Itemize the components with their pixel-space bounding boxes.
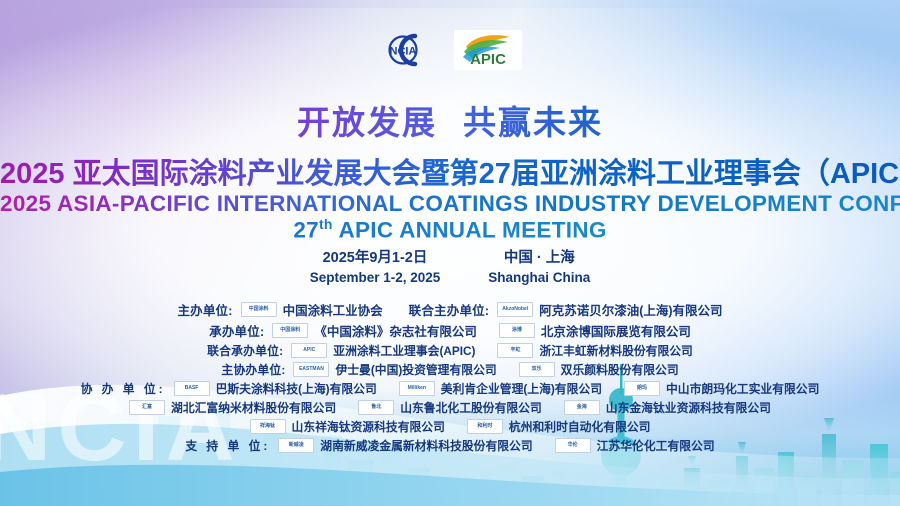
sponsor-logo-icon: 朗玛 — [624, 381, 660, 396]
sponsor-name: 亚洲涂料工业理事会(APIC) — [333, 342, 475, 359]
sponsor-row-label: 主办单位: — [177, 300, 232, 319]
sponsor-logo-icon: 中国涂料 — [241, 302, 277, 317]
sponsor-entry: APIC亚洲涂料工业理事会(APIC) — [291, 342, 475, 359]
header-logos: NCIA APIC — [0, 30, 900, 70]
sponsor-logo-icon: APIC — [291, 343, 327, 358]
sponsor-name: 山东祥海钛资源科技有限公司 — [292, 418, 445, 435]
sponsor-name: 北京涂博国际展览有限公司 — [541, 321, 691, 340]
sponsor-entry: 祥海钛山东祥海钛资源科技有限公司 — [250, 418, 445, 435]
sponsor-entry: 金海山东金海钛业资源科技有限公司 — [564, 399, 771, 416]
conference-title-english-line2: 27th APIC ANNUAL MEETING — [0, 216, 900, 244]
sponsor-entry: Milliken美利肯企业管理(上海)有限公司 — [399, 380, 602, 397]
sponsor-logo-icon: EASTMAN — [293, 362, 329, 377]
sponsor-name: 山东金海钛业资源科技有限公司 — [606, 399, 771, 416]
sponsor-logo-icon: 新威凌 — [278, 438, 314, 453]
sponsor-row-label: 联合承办单位: — [207, 342, 283, 359]
sponsor-name: 浙江丰虹新材料股份有限公司 — [539, 342, 692, 359]
sponsor-list: 主办单位:中国涂料中国涂料工业协会联合主办单位:AkzoNobel阿克苏诺贝尔漆… — [0, 300, 900, 456]
sponsor-name: 伊士曼(中国)投资管理有限公司 — [335, 361, 496, 378]
sponsor-row: 主协办单位:EASTMAN伊士曼(中国)投资管理有限公司双乐双乐颜料股份有限公司 — [0, 361, 900, 378]
svg-text:NCIA: NCIA — [390, 46, 417, 58]
ncia-logo-icon: NCIA — [379, 30, 431, 70]
conference-title-chinese: 2025 亚太国际涂料产业发展大会暨第27届亚洲涂料工业理事会（APIC）年会 — [0, 150, 900, 192]
sponsor-entry: 鲁北山东鲁北化工股份有限公司 — [358, 399, 542, 416]
sponsor-entry: 和利时杭州和利时自动化有限公司 — [467, 418, 651, 435]
sponsor-logo-icon: 中国涂料 — [272, 323, 308, 338]
slogan-part-2: 共赢未来 — [463, 104, 603, 141]
sponsor-name: 杭州和利时自动化有限公司 — [509, 418, 651, 435]
sponsor-name: 美利肯企业管理(上海)有限公司 — [441, 380, 602, 397]
sponsor-name: 中国涂料工业协会 — [283, 300, 383, 319]
sponsor-logo-icon: Milliken — [399, 381, 435, 396]
sponsor-name: 湖北汇富纳米材料股份有限公司 — [171, 399, 336, 416]
sponsor-logo-icon: 鲁北 — [358, 400, 394, 415]
sponsor-name: 双乐颜料股份有限公司 — [561, 361, 679, 378]
sponsor-entry: 汇富湖北汇富纳米材料股份有限公司 — [129, 399, 336, 416]
meeting-ordinal-suffix: th — [319, 216, 333, 232]
apic-logo: APIC — [454, 30, 522, 70]
sponsor-name: 阿克苏诺贝尔漆油(上海)有限公司 — [539, 300, 722, 319]
sponsor-name: 江苏华伦化工有限公司 — [597, 437, 715, 454]
conference-poster: NCIA NCIA APIC 开放发展共赢 — [0, 0, 900, 506]
sponsor-entry: 朗玛中山市朗玛化工实业有限公司 — [624, 380, 819, 397]
date-english: September 1-2, 2025 — [310, 269, 441, 287]
sponsor-logo-icon: BASF — [174, 381, 210, 396]
sponsor-entry: 双乐双乐颜料股份有限公司 — [519, 361, 679, 378]
apic-logo-icon: APIC — [456, 31, 520, 69]
sponsor-entry: 中国涂料中国涂料工业协会 — [241, 300, 383, 319]
sponsor-row: 承办单位:中国涂料《中国涂料》杂志社有限公司涂博北京涂博国际展览有限公司 — [0, 321, 900, 340]
sponsor-entry: 丰虹浙江丰虹新材料股份有限公司 — [497, 342, 692, 359]
sponsor-entry: EASTMAN伊士曼(中国)投资管理有限公司 — [293, 361, 496, 378]
sponsor-logo-icon: 丰虹 — [497, 343, 533, 358]
meeting-name: APIC ANNUAL MEETING — [333, 218, 607, 243]
sponsor-logo-icon: 双乐 — [519, 362, 555, 377]
sponsor-row: 支 持 单 位:新威凌湖南新威凌金属新材料科技股份有限公司华伦江苏华伦化工有限公… — [0, 437, 900, 454]
conference-slogan: 开放发展共赢未来 — [0, 96, 900, 144]
sponsor-row: 协 办 单 位:BASF巴斯夫涂料科技(上海)有限公司Milliken美利肯企业… — [0, 380, 900, 397]
sponsor-row-label: 承办单位: — [209, 321, 264, 340]
venue-block: 中国 · 上海 Shanghai China — [488, 249, 590, 287]
meeting-ordinal: 27 — [293, 218, 319, 243]
date-chinese: 2025年9月1-2日 — [310, 249, 441, 269]
sponsor-entry: 涂博北京涂博国际展览有限公司 — [499, 321, 691, 340]
sponsor-logo-icon: 金海 — [564, 400, 600, 415]
sponsor-logo-icon: 汇富 — [129, 400, 165, 415]
slogan-part-1: 开放发展 — [297, 104, 437, 141]
sponsor-name: 湖南新威凌金属新材料科技股份有限公司 — [320, 437, 532, 454]
sponsor-entry: BASF巴斯夫涂料科技(上海)有限公司 — [174, 380, 377, 397]
sponsor-logo-icon: 和利时 — [467, 419, 503, 434]
ncia-logo: NCIA — [378, 30, 432, 70]
sponsor-name: 巴斯夫涂料科技(上海)有限公司 — [216, 380, 377, 397]
sponsor-row-label: 协 办 单 位: — [81, 380, 166, 397]
sponsor-row: 联合承办单位:APIC亚洲涂料工业理事会(APIC)丰虹浙江丰虹新材料股份有限公… — [0, 342, 900, 359]
sponsor-row-label-secondary: 联合主办单位: — [409, 300, 490, 319]
sponsor-row: 主办单位:中国涂料中国涂料工业协会联合主办单位:AkzoNobel阿克苏诺贝尔漆… — [0, 300, 900, 319]
conference-title-english-line1: 2025 ASIA-PACIFIC INTERNATIONAL COATINGS… — [0, 191, 900, 217]
svg-text:APIC: APIC — [470, 51, 506, 68]
sponsor-entry: 中国涂料《中国涂料》杂志社有限公司 — [272, 321, 477, 340]
sponsor-row: 祥海钛山东祥海钛资源科技有限公司和利时杭州和利时自动化有限公司 — [0, 418, 900, 435]
sponsor-name: 山东鲁北化工股份有限公司 — [400, 399, 542, 416]
sponsor-row-label: 支 持 单 位: — [185, 437, 270, 454]
sponsor-logo-icon: 祥海钛 — [250, 419, 286, 434]
sponsor-entry: 华伦江苏华伦化工有限公司 — [555, 437, 715, 454]
sponsor-entry: AkzoNobel阿克苏诺贝尔漆油(上海)有限公司 — [497, 300, 722, 319]
venue-chinese: 中国 · 上海 — [488, 249, 590, 269]
sponsor-logo-icon: AkzoNobel — [497, 302, 533, 317]
sponsor-row: 汇富湖北汇富纳米材料股份有限公司鲁北山东鲁北化工股份有限公司金海山东金海钛业资源… — [0, 399, 900, 416]
date-venue-block: 2025年9月1-2日 September 1-2, 2025 中国 · 上海 … — [0, 249, 900, 287]
sponsor-name: 中山市朗玛化工实业有限公司 — [666, 380, 819, 397]
date-block: 2025年9月1-2日 September 1-2, 2025 — [310, 249, 441, 287]
sponsor-entry: 新威凌湖南新威凌金属新材料科技股份有限公司 — [278, 437, 532, 454]
sponsor-logo-icon: 涂博 — [499, 323, 535, 338]
venue-english: Shanghai China — [488, 269, 590, 287]
sponsor-logo-icon: 华伦 — [555, 438, 591, 453]
sponsor-row-label: 主协办单位: — [221, 361, 285, 378]
sponsor-name: 《中国涂料》杂志社有限公司 — [314, 321, 477, 340]
